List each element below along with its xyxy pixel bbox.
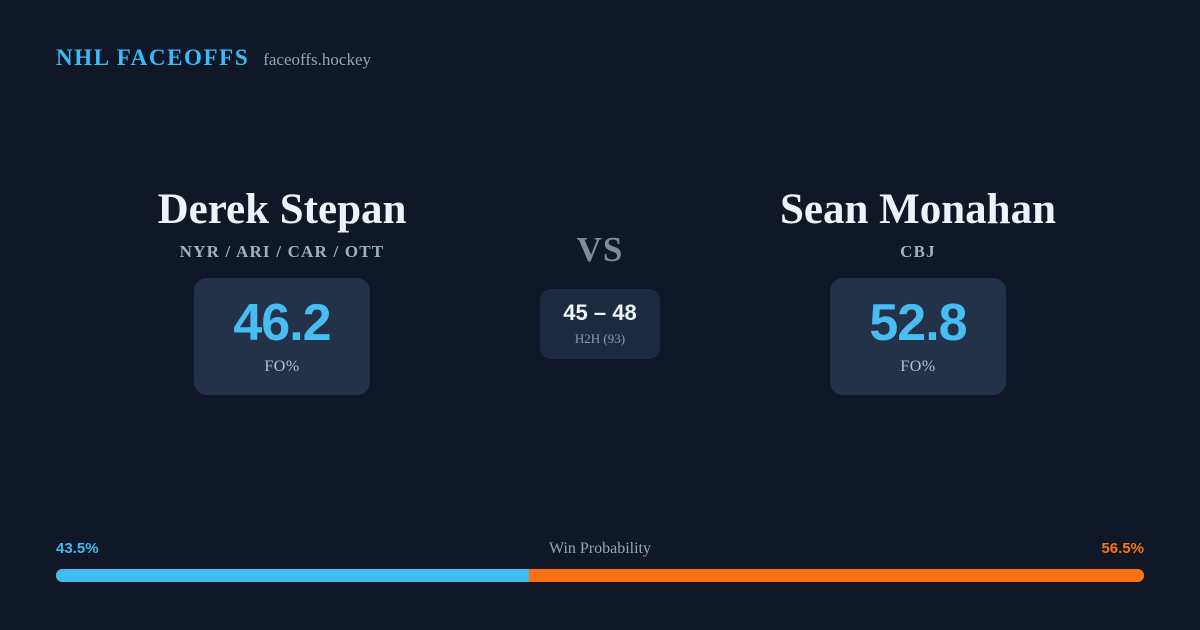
- player-right-stat-card: 52.8 FO%: [830, 278, 1006, 395]
- brand-title: NHL FACEOFFS: [56, 46, 249, 69]
- player-left-faceoff-pct: 46.2: [233, 297, 330, 349]
- versus-block: VS 45 – 48 H2H (93): [512, 186, 688, 359]
- win-probability-title: Win Probability: [56, 539, 1144, 559]
- head-to-head-score: 45 – 48: [563, 302, 636, 324]
- win-probability-labels: 43.5% Win Probability 56.5%: [56, 539, 1144, 559]
- win-probability-bar: [56, 569, 1144, 582]
- versus-label: VS: [577, 232, 624, 267]
- player-right: Sean Monahan CBJ 52.8 FO%: [692, 186, 1144, 395]
- player-left-teams: NYR / ARI / CAR / OTT: [180, 242, 385, 262]
- site-header: NHL FACEOFFS faceoffs.hockey: [56, 46, 371, 69]
- player-left-stat-card: 46.2 FO%: [194, 278, 370, 395]
- player-left-stat-label: FO%: [264, 358, 299, 376]
- win-probability-bar-right-fill: [529, 569, 1144, 582]
- player-right-name: Sean Monahan: [780, 186, 1056, 233]
- head-to-head-label: H2H (93): [575, 331, 625, 347]
- player-left: Derek Stepan NYR / ARI / CAR / OTT 46.2 …: [56, 186, 508, 395]
- player-left-name: Derek Stepan: [158, 186, 407, 233]
- player-right-faceoff-pct: 52.8: [869, 297, 966, 349]
- head-to-head-card: 45 – 48 H2H (93): [540, 289, 660, 359]
- player-right-teams: CBJ: [900, 242, 936, 262]
- matchup-row: Derek Stepan NYR / ARI / CAR / OTT 46.2 …: [56, 186, 1144, 395]
- win-probability-bar-left-fill: [56, 569, 529, 582]
- player-right-stat-label: FO%: [900, 358, 935, 376]
- faceoff-matchup-card: NHL FACEOFFS faceoffs.hockey Derek Stepa…: [0, 0, 1200, 630]
- win-probability-right-pct: 56.5%: [1101, 539, 1144, 559]
- site-url: faceoffs.hockey: [263, 51, 371, 68]
- win-probability-section: 43.5% Win Probability 56.5%: [56, 539, 1144, 582]
